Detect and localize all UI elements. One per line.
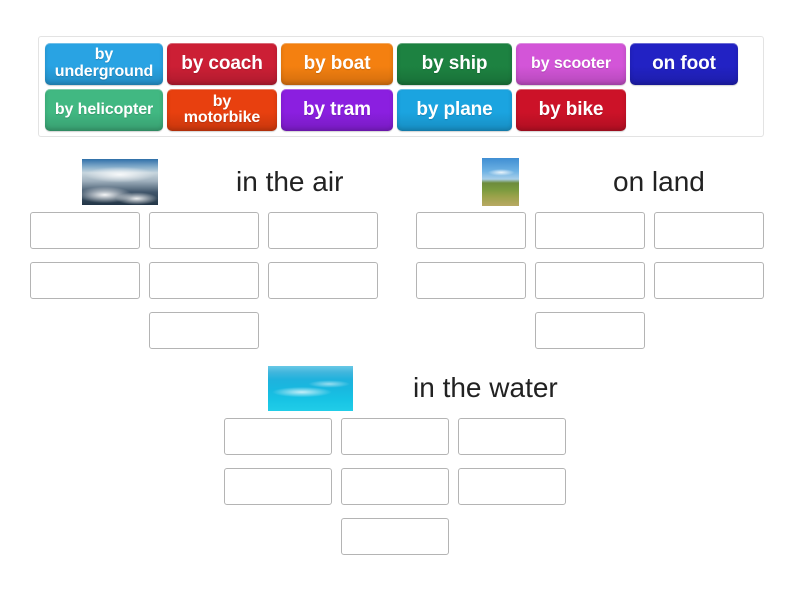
word-tile[interactable]: by bike <box>516 89 626 131</box>
drop-slot[interactable] <box>268 212 378 249</box>
drop-slot[interactable] <box>30 262 140 299</box>
drop-slot[interactable] <box>535 262 645 299</box>
category-title: in the air <box>236 166 343 198</box>
word-tile[interactable]: by plane <box>397 89 512 131</box>
word-tile[interactable]: by boat <box>281 43 393 85</box>
word-tile[interactable]: by tram <box>281 89 393 131</box>
tile-row: by undergroundby coachby boatby shipby s… <box>45 43 757 85</box>
category-header: in the water <box>224 358 594 418</box>
drop-slot[interactable] <box>149 312 259 349</box>
drop-slot[interactable] <box>416 262 526 299</box>
word-tile[interactable]: by scooter <box>516 43 626 85</box>
category-image-in-the-water <box>268 366 353 411</box>
drop-slot[interactable] <box>224 418 332 455</box>
drop-slot[interactable] <box>416 212 526 249</box>
drop-slot[interactable] <box>654 262 764 299</box>
drop-slot-grid-on-land <box>416 212 786 362</box>
word-tile[interactable]: on foot <box>630 43 738 85</box>
drop-slot[interactable] <box>30 212 140 249</box>
drop-slot[interactable] <box>149 262 259 299</box>
word-tile-bank: by undergroundby coachby boatby shipby s… <box>38 36 764 137</box>
drop-slot[interactable] <box>341 468 449 505</box>
category-on-land: on land <box>416 152 786 362</box>
category-title: in the water <box>413 372 558 404</box>
category-image-on-land <box>482 158 519 206</box>
drop-slot-grid-in-the-air <box>30 212 400 362</box>
word-tile[interactable]: by ship <box>397 43 512 85</box>
drop-slot-grid-in-the-water <box>224 418 594 568</box>
category-header: in the air <box>30 152 400 212</box>
category-in-the-water: in the water <box>224 358 594 568</box>
drop-slot[interactable] <box>341 418 449 455</box>
drop-slot[interactable] <box>149 212 259 249</box>
word-tile[interactable]: by helicopter <box>45 89 163 131</box>
drop-slot[interactable] <box>458 418 566 455</box>
drop-slot[interactable] <box>654 212 764 249</box>
drop-slot[interactable] <box>535 212 645 249</box>
drop-slot[interactable] <box>535 312 645 349</box>
category-title: on land <box>613 166 705 198</box>
tile-row: by helicopterby motorbikeby tramby plane… <box>45 89 757 131</box>
drop-slot[interactable] <box>224 468 332 505</box>
drop-slot[interactable] <box>268 262 378 299</box>
word-tile[interactable]: by motorbike <box>167 89 277 131</box>
category-in-the-air: in the air <box>30 152 400 362</box>
drop-slot[interactable] <box>341 518 449 555</box>
category-header: on land <box>416 152 786 212</box>
drop-slot[interactable] <box>458 468 566 505</box>
category-image-in-the-air <box>82 159 158 205</box>
word-tile[interactable]: by underground <box>45 43 163 85</box>
word-tile[interactable]: by coach <box>167 43 277 85</box>
